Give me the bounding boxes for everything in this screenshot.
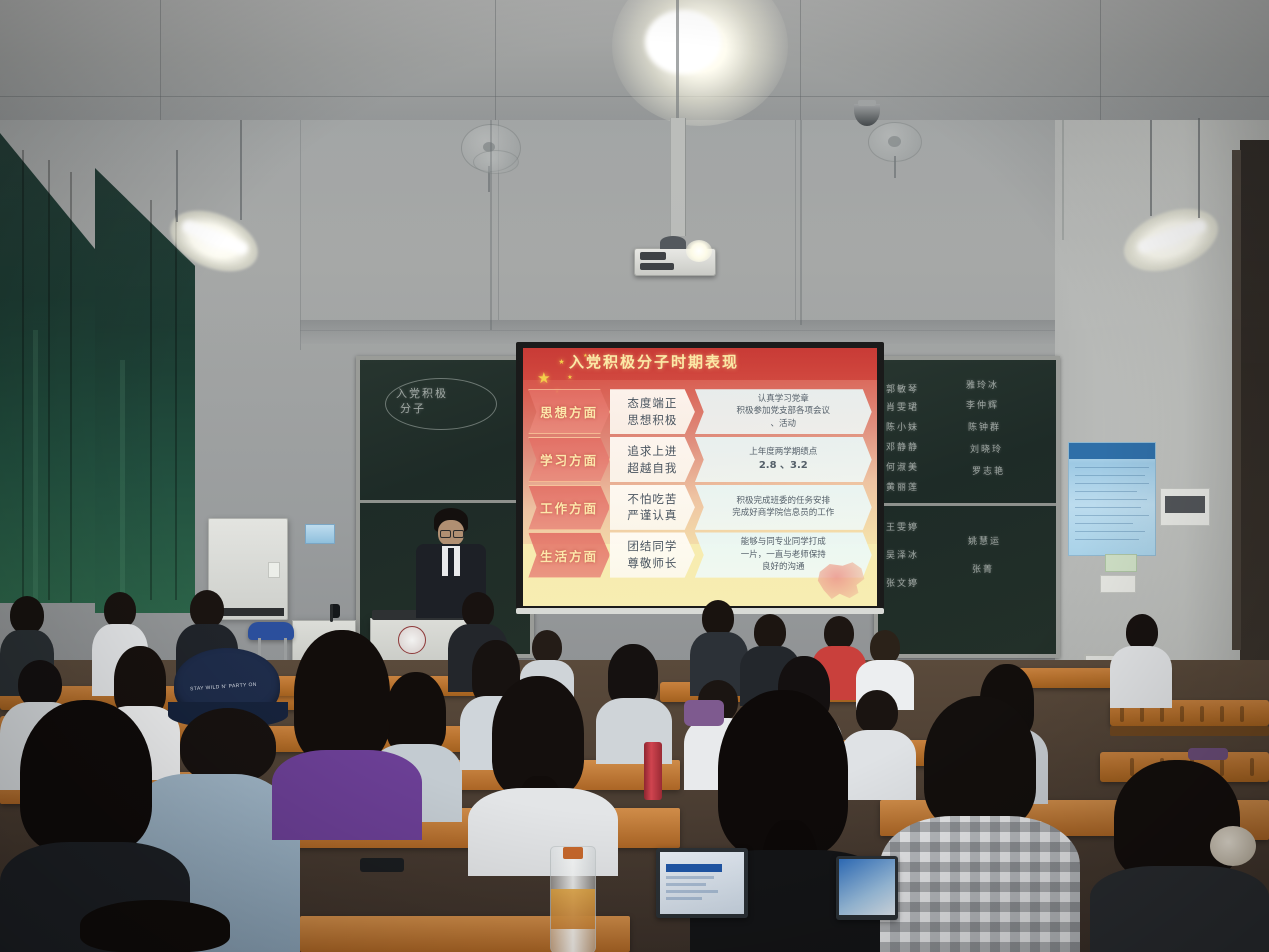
slide-row-middle: 不怕吃苦 严谨认真: [610, 485, 695, 530]
wall-fan-left: [455, 118, 529, 180]
chalk-name: 邓静静: [886, 440, 919, 453]
door-edge: [1232, 150, 1241, 650]
white-notice-sheet: [1100, 575, 1136, 593]
chalk-name: 李仲辉: [966, 398, 999, 411]
audience-member: [468, 676, 618, 876]
middle-line: 严谨认真: [627, 507, 677, 524]
audience-member-foreground: [880, 696, 1080, 952]
star-icon-small: ★: [558, 358, 564, 366]
chalk-name: 雅玲冰: [966, 378, 999, 391]
slide-row: 工作方面 不怕吃苦 严谨认真 积极完成班委的任务安排 完成好商学院信息员的工作: [523, 485, 877, 530]
slide-row-middle: 态度端正 思想积极: [610, 389, 695, 434]
detail-line: 2.8 、3.2: [759, 458, 808, 473]
blackboard-left-note: 入党积极: [396, 385, 448, 401]
projector-lens: [686, 240, 712, 262]
chalk-name: 肖雯珺: [886, 400, 919, 413]
eyeglasses: [440, 530, 451, 538]
middle-line: 尊敬师长: [627, 555, 677, 572]
detail-line: 良好的沟通: [762, 561, 805, 574]
slide-row-middle: 追求上进 超越自我: [610, 437, 695, 482]
detail-line: 能够与同专业同学打成: [741, 536, 826, 549]
open-laptop-right[interactable]: [836, 856, 898, 920]
open-laptop-left[interactable]: [656, 848, 748, 918]
audience-member: [272, 630, 422, 840]
detail-line: 积极完成班委的任务安排: [737, 495, 831, 508]
chalk-name: 吴泽冰: [886, 548, 919, 561]
audience-member-foreground: [1090, 760, 1269, 952]
eyeglasses: [453, 530, 464, 538]
detail-line: 认真学习党章: [758, 393, 809, 406]
slide-row-label: 生活方面: [528, 532, 610, 577]
slide-row-label: 工作方面: [528, 485, 610, 530]
middle-line: 态度端正: [627, 395, 677, 412]
laptop-screen: [839, 859, 895, 915]
slide-row-detail: 积极完成班委的任务安排 完成好商学院信息员的工作: [695, 485, 872, 530]
middle-line: 思想积极: [627, 412, 677, 429]
middle-line: 超越自我: [627, 460, 677, 477]
blue-safety-sign: [305, 524, 335, 544]
slide-title: 入党积极分子时期表现: [569, 351, 739, 372]
wall-shadow-band: [300, 320, 1060, 344]
slide-row-detail: 上年度两学期绩点 2.8 、3.2: [695, 437, 872, 482]
wall-display-panel: [1160, 488, 1210, 526]
panel-screen: [1165, 496, 1205, 513]
cabinet-label: [268, 562, 280, 578]
star-icon-small: ★: [567, 374, 572, 381]
slide-row: 学习方面 追求上进 超越自我 上年度两学期绩点 2.8 、3.2: [523, 437, 877, 482]
detail-line: 完成好商学院信息员的工作: [732, 507, 834, 520]
bag-on-bench: [1188, 748, 1228, 760]
middle-line: 不怕吃苦: [627, 491, 677, 508]
chalk-name: 刘晓玲: [970, 442, 1003, 455]
dome-security-camera: [854, 104, 880, 126]
wall-fan-right: [850, 100, 926, 172]
gooseneck-microphone: [330, 604, 333, 622]
audience-member-foreground: [60, 900, 260, 952]
smartphone-on-desk[interactable]: [360, 858, 404, 872]
hair-accessory: [1210, 826, 1256, 866]
lecture-hall-photo: 入党积极 分子 郭敏琴 肖雯珺 陈小妹 邓静静 何淑美 黄丽莲 雅玲冰 李仲辉 …: [0, 0, 1269, 952]
chalk-name: 郭敏琴: [886, 382, 919, 395]
chalk-name: 罗志艳: [972, 464, 1005, 477]
chalk-name: 何淑美: [886, 460, 919, 473]
slide-row-label: 思想方面: [528, 389, 610, 434]
detail-line: 积极参加党支部各项会议: [737, 405, 831, 418]
chalk-name: 张菁: [972, 562, 994, 575]
blue-notice-poster: [1068, 442, 1156, 556]
browser-toolbar: [666, 864, 722, 872]
slide-row-middle: 团结同学 尊敬师长: [610, 532, 695, 577]
slide-row-detail: 认真学习党章 积极参加党支部各项会议 、活动: [695, 389, 872, 434]
chalk-name: 陈小妹: [886, 420, 919, 433]
projector-mount-pole: [670, 118, 686, 236]
middle-line: 团结同学: [627, 538, 677, 555]
chalk-name: 陈钟群: [968, 420, 1001, 433]
chalk-name: 王雯婷: [886, 520, 919, 533]
slide-row: 思想方面 态度端正 思想积极 认真学习党章 积极参加党支部各项会议 、活动: [523, 389, 877, 434]
doorway-right: [1240, 140, 1269, 660]
water-bottle[interactable]: [550, 846, 596, 952]
chalk-name: 姚慧运: [968, 534, 1001, 547]
laptop-screen: [660, 852, 744, 914]
slide-row-label: 学习方面: [528, 437, 610, 482]
notice-header: [1069, 443, 1155, 459]
detail-line: 、活动: [771, 418, 797, 431]
bag-on-bench: [684, 700, 724, 726]
projected-slide: ★ ★ ★ ★ ★ 入党积极分子时期表现 思想方面 态度端正 思想积极 认真学习…: [523, 348, 877, 606]
drink-can[interactable]: [644, 742, 662, 800]
detail-line: 一片，一直与老师保持: [741, 549, 826, 562]
middle-line: 追求上进: [627, 443, 677, 460]
detail-line: 上年度两学期绩点: [749, 446, 817, 459]
audience-member: [1110, 614, 1172, 708]
chalk-name: 张文婷: [886, 576, 919, 589]
green-notice-sheet: [1105, 554, 1137, 572]
star-icon: ★: [537, 369, 550, 387]
chalk-name: 黄丽莲: [886, 480, 919, 493]
